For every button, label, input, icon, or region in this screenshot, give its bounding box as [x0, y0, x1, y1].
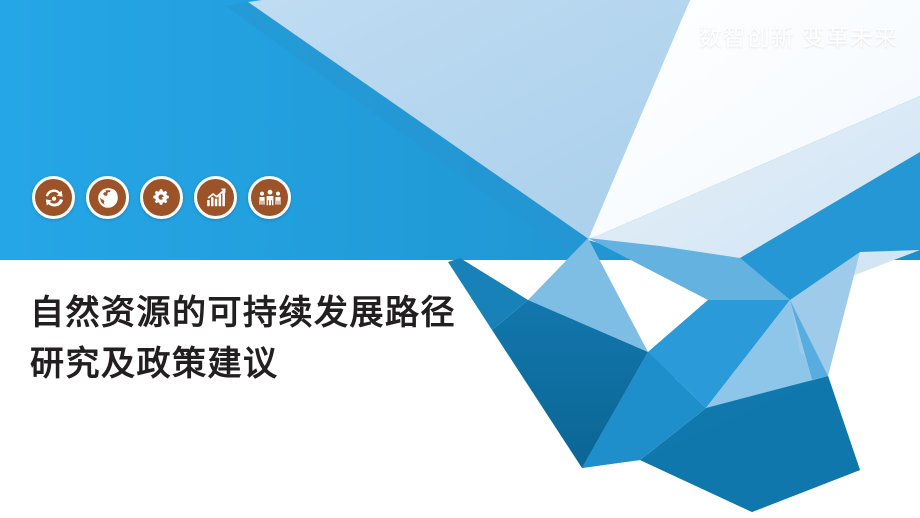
- people-group-icon: [258, 186, 282, 210]
- gears-icon: [150, 186, 174, 210]
- recycle-arrow-icon: [42, 186, 66, 210]
- presentation-title-slide: 数智创新 变革未来: [0, 0, 920, 518]
- header-tagline: 数智创新 变革未来: [699, 24, 898, 52]
- icon-badge-bar-chart[interactable]: [194, 176, 237, 219]
- page-title: 自然资源的可持续发展路径 研究及政策建议: [30, 288, 550, 390]
- icon-badge-globe[interactable]: [86, 176, 129, 219]
- icon-badge-gears[interactable]: [140, 176, 183, 219]
- bar-chart-growth-icon: [204, 186, 228, 210]
- page-title-line-2: 研究及政策建议: [30, 339, 550, 390]
- icon-badge-row: [32, 176, 291, 219]
- icon-badge-recycle[interactable]: [32, 176, 75, 219]
- background-polygon-artwork: [0, 0, 920, 518]
- page-title-line-1: 自然资源的可持续发展路径: [30, 288, 550, 339]
- globe-icon: [96, 186, 120, 210]
- icon-badge-people[interactable]: [248, 176, 291, 219]
